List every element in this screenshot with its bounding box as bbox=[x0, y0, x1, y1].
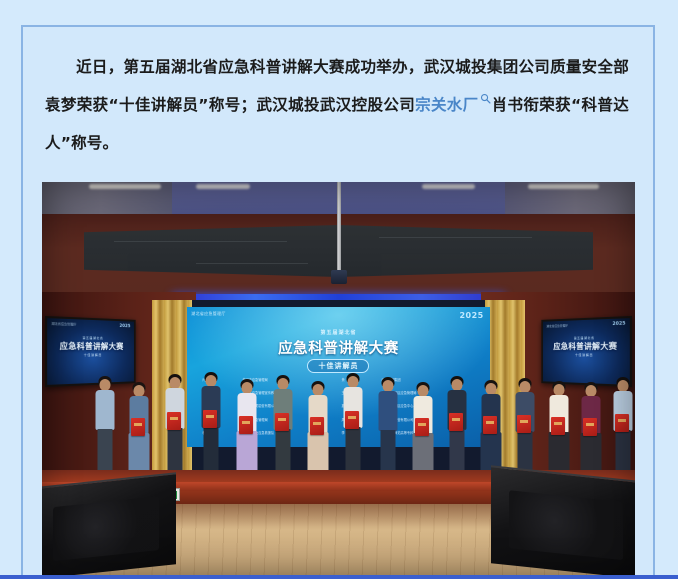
red-certificate bbox=[345, 411, 359, 429]
award-recipient bbox=[124, 382, 154, 482]
award-recipient bbox=[338, 373, 368, 482]
award-recipient bbox=[544, 381, 574, 482]
monitor-logo: 湖北省应急管理厅 bbox=[547, 324, 568, 329]
red-certificate bbox=[449, 413, 463, 431]
ceremony-photo: 湖北省应急管理厅 2025 第五届湖北省 应急科普讲解大赛 十佳讲解员 闫凡迪黄… bbox=[42, 182, 635, 579]
award-recipient bbox=[196, 372, 226, 482]
monitor-logo: 湖北省应急管理厅 bbox=[51, 321, 76, 326]
search-icon[interactable] bbox=[480, 93, 491, 104]
red-certificate bbox=[551, 417, 565, 435]
award-recipient bbox=[373, 377, 403, 482]
person-torso bbox=[96, 390, 115, 430]
foreground-speaker-right bbox=[491, 465, 635, 579]
person-torso bbox=[379, 391, 398, 431]
red-certificate bbox=[583, 418, 597, 436]
red-certificate bbox=[275, 413, 289, 431]
projector-pole bbox=[337, 182, 341, 278]
monitor-title: 应急科普讲解大赛 bbox=[543, 340, 630, 352]
monitor-year: 2025 bbox=[612, 321, 625, 327]
award-recipient bbox=[408, 382, 438, 482]
monitor-year: 2025 bbox=[119, 324, 130, 329]
article-page: 近日，第五届湖北省应急科普讲解大赛成功举办，武汉城投集团公司质量安全部袁梦荣获“… bbox=[0, 0, 678, 579]
red-certificate bbox=[310, 417, 324, 435]
award-recipient bbox=[160, 374, 190, 482]
award-recipient bbox=[608, 377, 635, 482]
red-certificate bbox=[615, 414, 629, 432]
red-certificate bbox=[203, 410, 217, 428]
award-recipient bbox=[232, 379, 262, 482]
red-certificate bbox=[167, 412, 181, 430]
bottom-strip bbox=[0, 575, 678, 579]
red-certificate bbox=[517, 415, 531, 433]
foreground-speaker-left bbox=[42, 472, 176, 579]
award-recipients-row bbox=[42, 352, 635, 482]
ceiling-light bbox=[89, 184, 160, 189]
ceiling-light bbox=[528, 184, 599, 189]
red-certificate bbox=[483, 416, 497, 434]
red-certificate bbox=[415, 418, 429, 436]
red-certificate bbox=[131, 418, 145, 436]
award-recipient bbox=[268, 375, 298, 482]
red-certificate bbox=[239, 416, 253, 434]
ceiling-light bbox=[196, 184, 249, 189]
screen-year: 2025 bbox=[459, 311, 483, 320]
award-recipient bbox=[442, 376, 472, 482]
ceiling-light bbox=[422, 184, 475, 189]
award-recipient bbox=[576, 382, 606, 482]
monitor-title: 应急科普讲解大赛 bbox=[47, 340, 134, 352]
article-paragraph: 近日，第五届湖北省应急科普讲解大赛成功举办，武汉城投集团公司质量安全部袁梦荣获“… bbox=[23, 26, 653, 170]
photo-scene: 湖北省应急管理厅 2025 第五届湖北省 应急科普讲解大赛 十佳讲解员 闫凡迪黄… bbox=[42, 182, 635, 579]
award-recipient bbox=[510, 378, 540, 482]
screen-logo: 湖北省应急管理厅 bbox=[191, 311, 225, 317]
award-recipient bbox=[90, 376, 120, 482]
award-recipient bbox=[303, 381, 333, 482]
entity-link-zongguan-waterworks[interactable]: 宗关水厂 bbox=[415, 96, 478, 114]
screen-subtitle: 第五届湖北省 bbox=[187, 329, 489, 336]
projector bbox=[331, 270, 347, 284]
